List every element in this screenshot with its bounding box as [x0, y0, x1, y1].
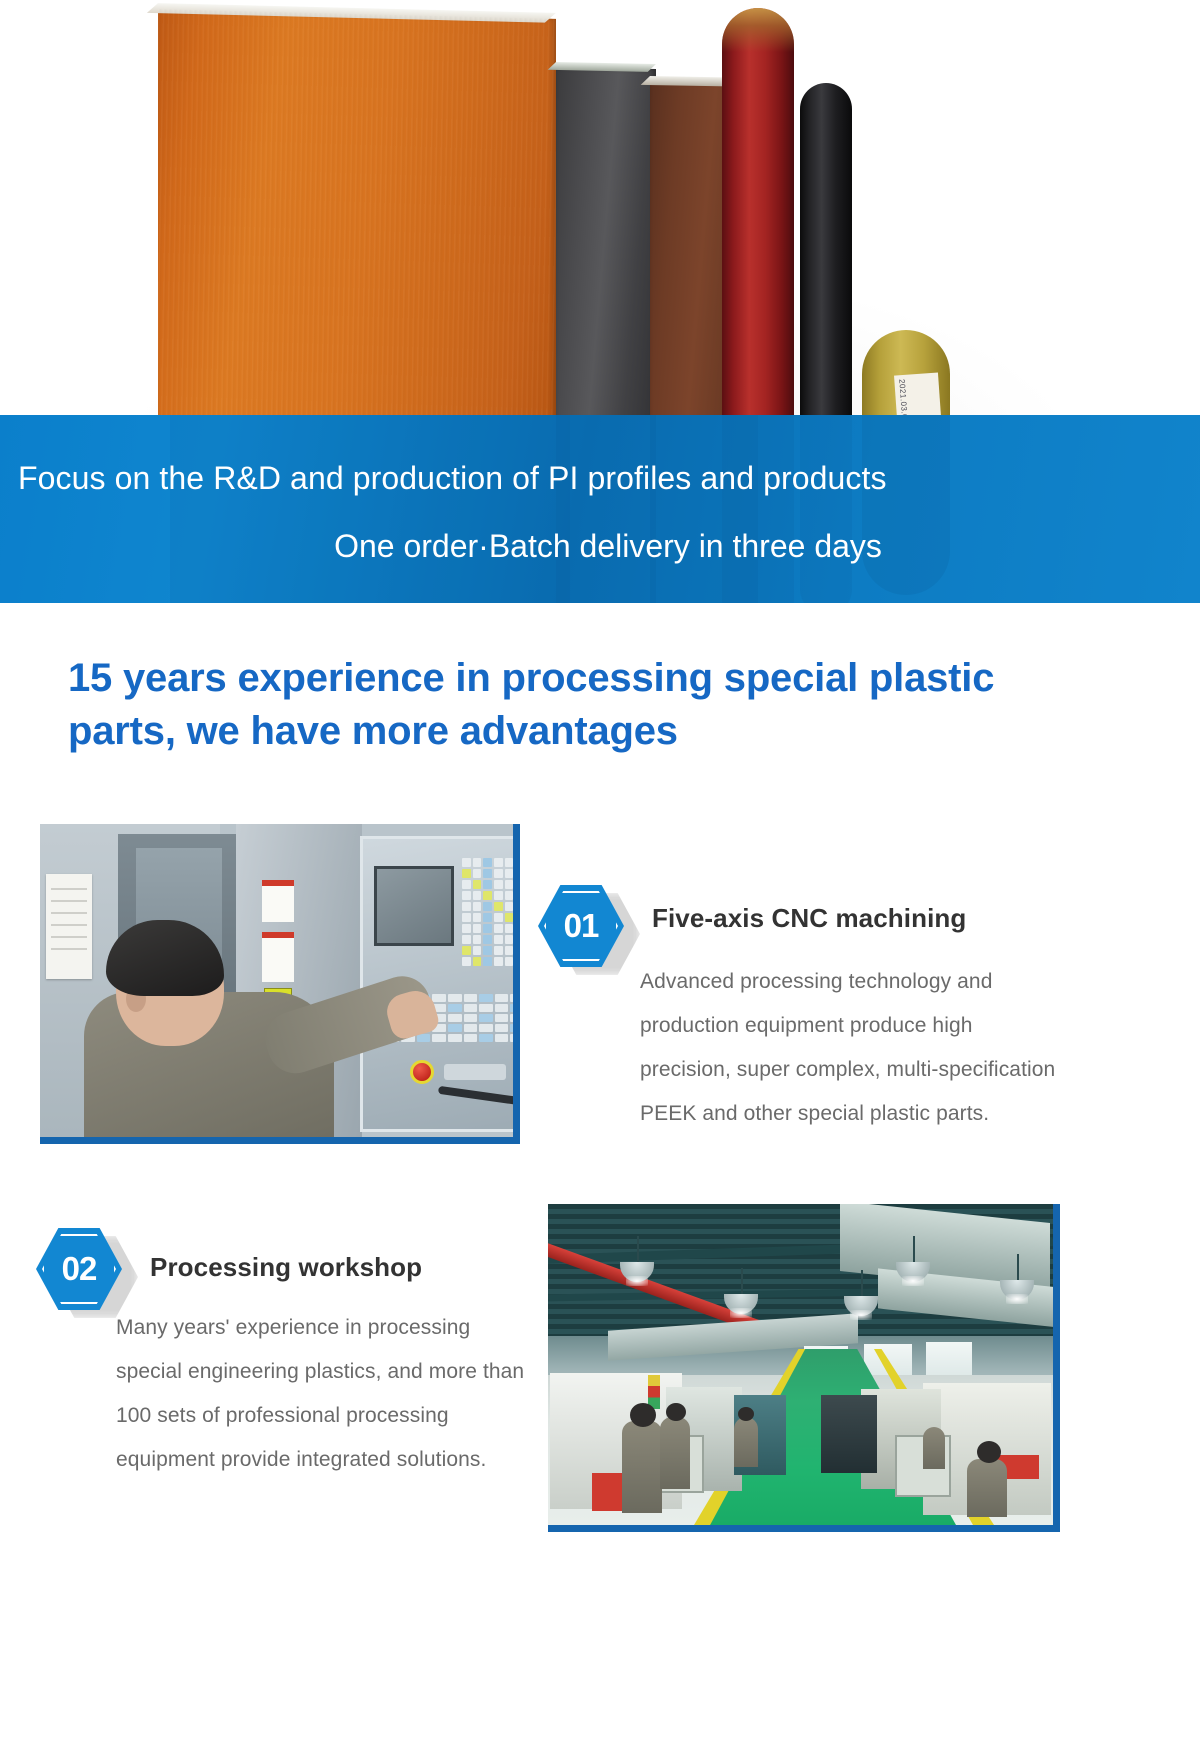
page-title: 15 years experience in processing specia…	[68, 652, 1048, 758]
dark-grey-sheet	[556, 67, 656, 432]
worker-head	[666, 1403, 686, 1421]
worker-head	[738, 1407, 754, 1421]
section-body-01: Advanced processing technology and produ…	[640, 960, 1068, 1136]
warning-label	[262, 932, 294, 982]
cnc-scene	[40, 824, 513, 1137]
section-badge-02: 02	[36, 1228, 122, 1310]
posted-document	[46, 874, 92, 979]
hero-product-photo: 2021.03.08	[0, 0, 1200, 432]
worker	[967, 1459, 1007, 1517]
red-rod	[722, 8, 794, 432]
black-rod	[800, 83, 852, 432]
section-title-02: Processing workshop	[150, 1252, 590, 1283]
cnc-screen	[374, 866, 454, 946]
worker-head	[630, 1403, 656, 1427]
section-title-01: Five-axis CNC machining	[652, 903, 1172, 934]
processing-workshop-photo	[548, 1204, 1060, 1532]
worker	[622, 1421, 662, 1513]
warning-label	[262, 880, 294, 922]
cnc-operator-photo	[40, 824, 520, 1144]
section-badge-01: 01	[538, 885, 624, 967]
banner-text-group: Focus on the R&D and production of PI pr…	[0, 415, 1200, 566]
worker	[660, 1417, 690, 1489]
orange-phenolic-sheet	[158, 9, 556, 432]
section-body-02: Many years' experience in processing spe…	[116, 1306, 526, 1482]
worker	[734, 1417, 758, 1467]
banner-headline-secondary: One order·Batch delivery in three days	[0, 527, 1200, 565]
worker	[923, 1427, 945, 1469]
workshop-scene	[548, 1204, 1053, 1525]
tagline-banner: Focus on the R&D and production of PI pr…	[0, 415, 1200, 603]
cnc-keypad-right	[462, 858, 520, 988]
badge-number: 01	[538, 885, 624, 967]
worker-head	[977, 1441, 1001, 1463]
banner-headline-primary: Focus on the R&D and production of PI pr…	[0, 459, 1200, 497]
emergency-stop-button	[410, 1060, 434, 1084]
control-knobs	[444, 1064, 506, 1080]
cnc-machine	[821, 1395, 877, 1473]
badge-number: 02	[36, 1228, 122, 1310]
